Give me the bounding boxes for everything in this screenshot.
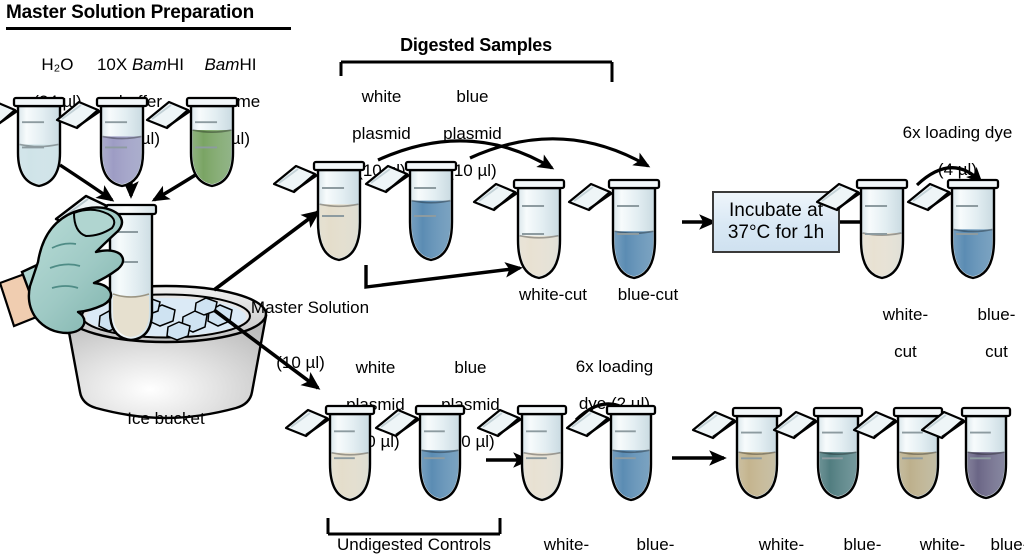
tube-enzyme <box>145 96 245 207</box>
tube-lid <box>376 410 422 436</box>
tube-lid <box>817 184 863 210</box>
tube-enzyme <box>145 96 245 202</box>
tube-bp-top <box>364 160 464 276</box>
tube-wp-top <box>272 160 372 276</box>
diagram-canvas: Master Solution Preparation Digested Sam… <box>0 0 1024 559</box>
tube-lid <box>854 412 900 438</box>
tube-lid <box>908 184 954 210</box>
tube-buffer <box>55 96 155 202</box>
tube-lid <box>147 102 193 128</box>
tube-bc-mix <box>567 178 667 294</box>
tube-lid <box>569 184 615 210</box>
tube-layer <box>0 0 1024 559</box>
tube-bu <box>565 404 663 516</box>
tube-buffer <box>55 96 155 207</box>
tube-blue-cut-incub <box>906 178 1006 299</box>
tube-lid <box>478 410 524 436</box>
tube-lid <box>567 410 613 436</box>
tube-bc-inc <box>906 178 1006 294</box>
tube-lid <box>922 412 968 438</box>
tube-white-cut-mix <box>472 178 572 299</box>
tube-wp-bot <box>284 404 382 516</box>
tube-lid <box>57 102 103 128</box>
tube-final-blue-uncut <box>920 406 1018 519</box>
tube-wc-inc <box>815 178 915 294</box>
tube-white-plasmid-top <box>272 160 372 281</box>
tube-blue-cut-mix <box>567 178 667 299</box>
tube-f-bu <box>920 406 1018 514</box>
tube-lid <box>474 184 520 210</box>
tube-lid <box>366 166 412 192</box>
tube-lid <box>693 412 739 438</box>
tube-white-cut-incub <box>815 178 915 299</box>
tube-lid <box>286 410 332 436</box>
tube-lid <box>274 166 320 192</box>
tube-white-plasmid-bot <box>284 404 382 521</box>
tube-wu <box>476 404 574 516</box>
tube-lid <box>774 412 820 438</box>
tube-white-uncut <box>476 404 574 521</box>
tube-blue-plasmid-bot <box>374 404 472 521</box>
tube-blue-uncut <box>565 404 663 521</box>
tube-blue-plasmid-top <box>364 160 464 281</box>
tube-wc-mix <box>472 178 572 294</box>
tube-bp-bot <box>374 404 472 516</box>
